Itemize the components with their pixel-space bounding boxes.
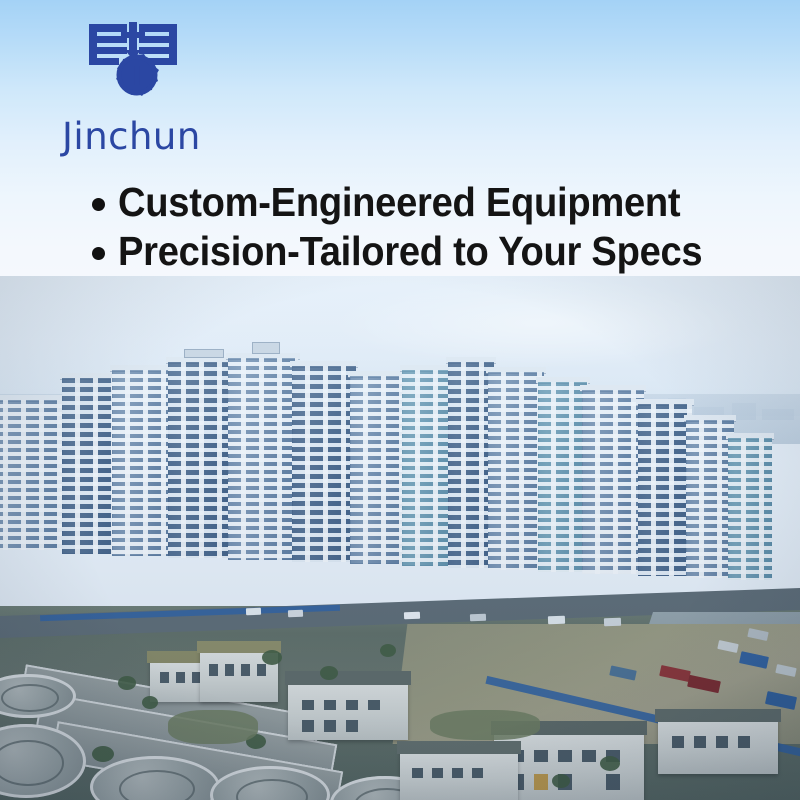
tower [686,420,734,578]
brand-logo-block: Jinchun [62,22,292,142]
tree [118,676,136,690]
tower [350,376,408,564]
workshop-building [400,748,518,800]
warehouse-building [288,678,408,740]
brand-wordmark: Jinchun [62,118,201,155]
tower [582,390,644,574]
plant-building [658,716,778,774]
street-car [404,612,420,620]
sky-haze [330,278,750,368]
tower [638,404,692,576]
tower [62,378,118,554]
street-car [246,608,261,616]
headline-text-1: Custom-Engineered Equipment [118,182,680,223]
headline-list: Custom-Engineered Equipment Precision-Ta… [92,178,772,276]
jinchun-gear-emblem-logo-icon [85,22,181,108]
tower [0,400,68,550]
promo-banner: Jinchun Custom-Engineered Equipment Prec… [0,0,800,800]
industrial-park-aerial-photo [0,276,800,800]
tree [380,644,396,657]
tree [552,774,570,788]
street-car [288,610,303,618]
headline-item-1: Custom-Engineered Equipment [92,178,772,227]
grass-patch [430,710,540,740]
tower [538,382,588,572]
ground-plane [0,606,800,800]
tree [92,746,114,762]
street-car [604,618,621,627]
street-car [548,616,565,625]
tower [228,358,298,560]
bullet-dot-icon [92,198,105,211]
bullet-dot-icon [92,247,105,260]
tower [168,362,234,558]
tower [402,370,454,566]
tree [600,756,620,771]
tower [488,372,544,570]
headline-item-2: Precision-Tailored to Your Specs [92,227,772,276]
tower [112,370,174,556]
grass-patch [168,710,258,744]
highrise-tower-cluster [0,388,800,618]
tree [142,696,158,709]
tower [292,366,356,562]
headline-text-2: Precision-Tailored to Your Specs [118,231,702,272]
tower [728,438,772,580]
street-car [470,614,486,622]
tree [262,650,282,665]
tree [320,666,338,680]
